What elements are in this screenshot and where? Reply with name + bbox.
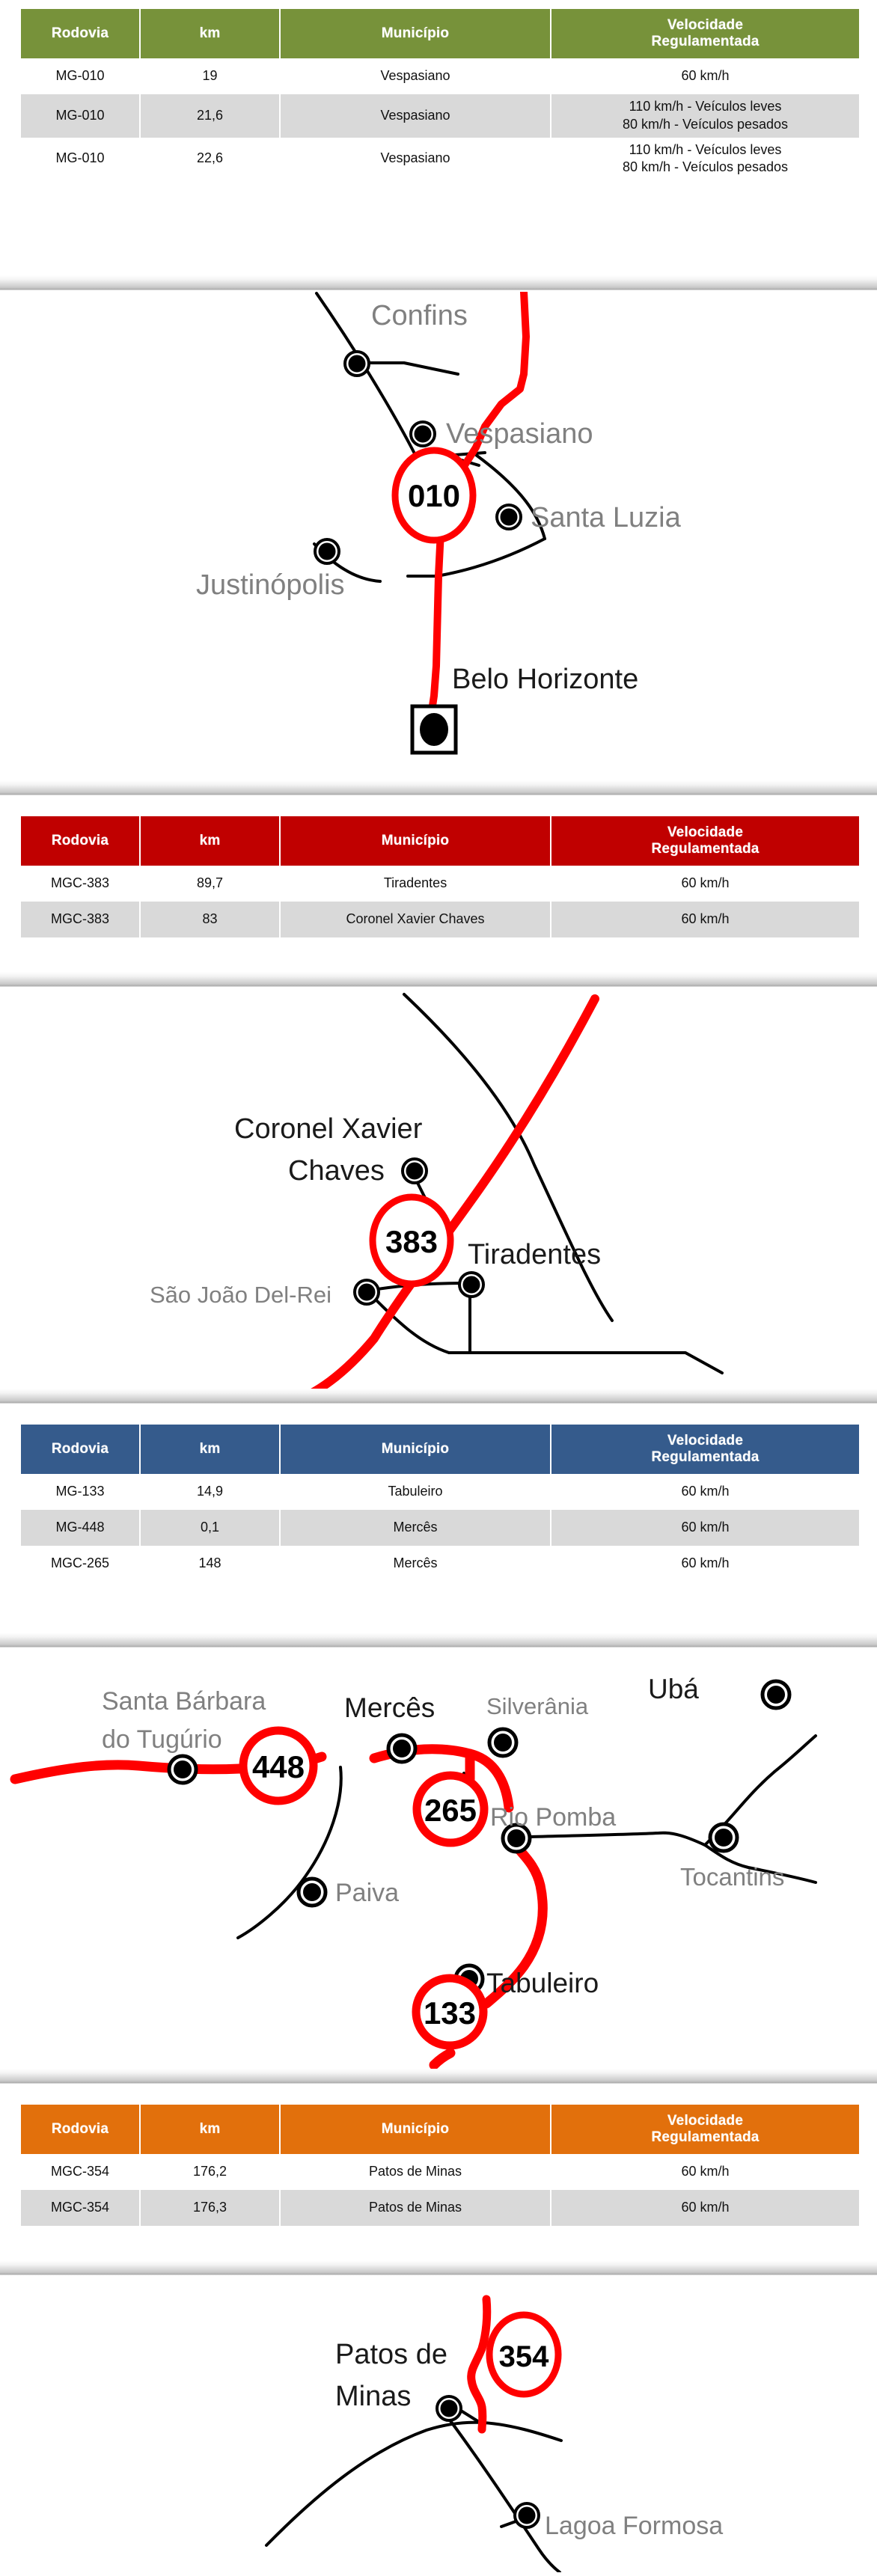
road-map-mgc-383-svg: 383 Coronel Xavier Chaves Tiradentes São… [0, 991, 877, 1403]
section-divider [0, 1389, 877, 1408]
speed-table-mg-133: Rodovia km Município Velocidade Regulame… [21, 1425, 859, 1582]
column-header-velocidade-line2: Regulamentada [651, 1449, 759, 1465]
cell-rodovia: MG-448 [21, 1510, 141, 1546]
city-label-uba: Ubá [648, 1674, 699, 1704]
highway-shield-383-number: 383 [385, 1224, 438, 1259]
cell-velocidade: 110 km/h - Veículos leves 80 km/h - Veíc… [551, 94, 859, 138]
city-label-paiva: Paiva [335, 1879, 399, 1907]
section-mg-133: Rodovia km Município Velocidade Regulame… [0, 1408, 877, 1633]
table-row: MG-448 0,1 Mercês 60 km/h [21, 1510, 859, 1546]
column-header-velocidade-line1: Velocidade [667, 824, 743, 840]
highway-mg-133-lower [434, 2053, 450, 2065]
highway-shield-133-number: 133 [424, 1995, 476, 2031]
highway-mgc-354-line [471, 2299, 487, 2429]
cell-municipio: Patos de Minas [281, 2154, 551, 2190]
highway-shield-265-number: 265 [424, 1793, 477, 1828]
section-divider [0, 2069, 877, 2088]
table-row: MG-010 22,6 Vespasiano 110 km/h - Veícul… [21, 138, 859, 181]
cell-km: 22,6 [141, 138, 281, 181]
column-header-velocidade: Velocidade Regulamentada [551, 9, 859, 58]
highway-shield-010: 010 [395, 450, 473, 540]
highway-shield-354-number: 354 [499, 2340, 549, 2373]
city-node-patos-de-minas [439, 2399, 459, 2418]
cell-km: 176,2 [141, 2154, 281, 2190]
city-node-confins [347, 354, 367, 373]
section-mgc-354: Rodovia km Município Velocidade Regulame… [0, 2088, 877, 2260]
city-node-lagoa-formosa [517, 2506, 537, 2525]
city-node-sao-joao-del-rei [357, 1282, 376, 1302]
column-header-velocidade-line1: Velocidade [667, 17, 743, 33]
cell-velocidade: 60 km/h [551, 1510, 859, 1546]
cell-rodovia: MGC-354 [21, 2154, 141, 2190]
cell-municipio: Patos de Minas [281, 2190, 551, 2226]
column-header-municipio: Município [281, 2105, 551, 2154]
highway-shield-448: 448 [243, 1731, 314, 1801]
column-header-km: km [141, 816, 281, 866]
column-header-rodovia: Rodovia [21, 2105, 141, 2154]
city-label-minas: Minas [335, 2381, 411, 2412]
cell-municipio: Tiradentes [281, 866, 551, 902]
cell-municipio: Vespasiano [281, 58, 551, 94]
cell-velocidade: 60 km/h [551, 866, 859, 902]
cell-velocidade-line1: 110 km/h - Veículos leves [629, 99, 782, 114]
city-node-uba [766, 1684, 786, 1705]
cell-velocidade: 110 km/h - Veículos leves 80 km/h - Veíc… [551, 138, 859, 181]
city-label-tocantins: Tocantins [680, 1863, 784, 1891]
city-node-silverania [492, 1732, 513, 1753]
city-label-santa-luzia: Santa Luzia [531, 502, 682, 533]
cell-km: 14,9 [141, 1474, 281, 1510]
cell-rodovia: MGC-354 [21, 2190, 141, 2226]
map-mg-010: 010 Confins Vespasiano Santa Luzia Justi… [0, 292, 877, 793]
cell-velocidade: 60 km/h [551, 2190, 859, 2226]
cell-velocidade: 60 km/h [551, 902, 859, 937]
city-node-vespasiano [413, 424, 433, 444]
highway-shield-010-number: 010 [408, 478, 460, 513]
table-row: MGC-383 89,7 Tiradentes 60 km/h [21, 866, 859, 902]
cell-velocidade: 60 km/h [551, 2154, 859, 2190]
highway-shield-354: 354 [489, 2315, 558, 2394]
cell-km: 83 [141, 902, 281, 937]
city-label-confins: Confins [371, 300, 468, 331]
city-nodes [437, 2396, 539, 2527]
cell-rodovia: MGC-265 [21, 1546, 141, 1582]
cell-velocidade: 60 km/h [551, 58, 859, 94]
cell-km: 21,6 [141, 94, 281, 138]
table-header-row: Rodovia km Município Velocidade Regulame… [21, 1425, 859, 1474]
map-mg-133: 448 265 133 Santa Bárbara do Tugúrio Mer… [0, 1652, 877, 2071]
city-node-santa-barbara-do-tugurio [172, 1759, 193, 1780]
table-header-row: Rodovia km Município Velocidade Regulame… [21, 9, 859, 58]
section-mg-010: Rodovia km Município Velocidade Regulame… [0, 0, 877, 292]
city-nodes [169, 1681, 789, 1992]
cell-municipio: Coronel Xavier Chaves [281, 902, 551, 937]
city-label-vespasiano: Vespasiano [446, 418, 593, 450]
cell-km: 19 [141, 58, 281, 94]
city-label-sao-joao-del-rei: São João Del-Rei [150, 1282, 331, 1308]
city-node-merces [391, 1738, 412, 1759]
cell-km: 89,7 [141, 866, 281, 902]
speed-table-mgc-383: Rodovia km Município Velocidade Regulame… [21, 816, 859, 937]
column-header-velocidade-line2: Regulamentada [651, 841, 759, 857]
map-mgc-354: 354 Patos de Minas Lagoa Formosa [0, 2280, 877, 2572]
section-mgc-383: Rodovia km Município Velocidade Regulame… [0, 800, 877, 972]
table-row: MG-133 14,9 Tabuleiro 60 km/h [21, 1474, 859, 1510]
table-row: MGC-354 176,2 Patos de Minas 60 km/h [21, 2154, 859, 2190]
column-header-rodovia: Rodovia [21, 1425, 141, 1474]
city-node-paiva [302, 1882, 323, 1903]
highway-shield-133: 133 [416, 1978, 483, 2046]
cell-km: 176,3 [141, 2190, 281, 2226]
table-header-row: Rodovia km Município Velocidade Regulame… [21, 816, 859, 866]
city-node-justinopolis [317, 542, 337, 561]
highway-shield-448-number: 448 [252, 1749, 305, 1784]
highway-shield-265: 265 [417, 1775, 484, 1843]
city-label-coronel-xavier: Coronel Xavier [234, 1113, 423, 1145]
city-label-lagoa-formosa: Lagoa Formosa [545, 2512, 723, 2540]
column-header-velocidade-line1: Velocidade [667, 2113, 743, 2129]
city-label-merces: Mercês [344, 1692, 435, 1723]
city-node-tiradentes [462, 1275, 481, 1294]
secondary-roads [368, 994, 722, 1373]
cell-rodovia: MG-010 [21, 94, 141, 138]
section-divider [0, 1633, 877, 1652]
city-node-tocantins [713, 1827, 734, 1848]
column-header-municipio: Município [281, 9, 551, 58]
cell-rodovia: MG-010 [21, 138, 141, 181]
table-row: MG-010 21,6 Vespasiano 110 km/h - Veícul… [21, 94, 859, 138]
cell-velocidade-line1: 110 km/h - Veículos leves [629, 142, 782, 157]
cell-municipio: Vespasiano [281, 138, 551, 181]
capital-marker-dot [420, 713, 448, 746]
road-map-mg-010-svg: 010 Confins Vespasiano Santa Luzia Justi… [0, 292, 877, 793]
cell-km: 148 [141, 1546, 281, 1582]
section-divider [0, 2260, 877, 2280]
secondary-roads [266, 2403, 561, 2572]
city-node-santa-luzia [499, 507, 519, 527]
column-header-velocidade-line1: Velocidade [667, 1433, 743, 1448]
table-header-row: Rodovia km Município Velocidade Regulame… [21, 2105, 859, 2154]
city-label-silverania: Silverânia [486, 1693, 589, 1719]
cell-rodovia: MG-133 [21, 1474, 141, 1510]
city-node-coronel-xavier-chaves [405, 1161, 424, 1181]
column-header-velocidade-line2: Regulamentada [651, 34, 759, 49]
city-label-tiradentes: Tiradentes [468, 1239, 601, 1270]
column-header-rodovia: Rodovia [21, 816, 141, 866]
city-label-tabuleiro: Tabuleiro [486, 1968, 599, 1998]
cell-rodovia: MGC-383 [21, 902, 141, 937]
highway-shield-383: 383 [373, 1197, 450, 1284]
table-row: MGC-265 148 Mercês 60 km/h [21, 1546, 859, 1582]
cell-rodovia: MGC-383 [21, 866, 141, 902]
cell-municipio: Vespasiano [281, 94, 551, 138]
column-header-km: km [141, 1425, 281, 1474]
cell-velocidade-line2: 80 km/h - Veículos pesados [623, 159, 788, 174]
table-row: MGC-354 176,3 Patos de Minas 60 km/h [21, 2190, 859, 2226]
column-header-velocidade: Velocidade Regulamentada [551, 1425, 859, 1474]
city-label-rio-pomba: Rio Pomba [490, 1803, 616, 1832]
speed-table-mgc-354: Rodovia km Município Velocidade Regulame… [21, 2105, 859, 2226]
road-map-mgc-354-svg: 354 Patos de Minas Lagoa Formosa [0, 2280, 877, 2572]
cell-municipio: Mercês [281, 1546, 551, 1582]
city-label-belo-horizonte: Belo Horizonte [452, 664, 638, 695]
cell-velocidade: 60 km/h [551, 1546, 859, 1582]
cell-velocidade: 60 km/h [551, 1474, 859, 1510]
column-header-municipio: Município [281, 816, 551, 866]
section-divider [0, 780, 877, 800]
map-mgc-383: 383 Coronel Xavier Chaves Tiradentes São… [0, 991, 877, 1403]
table-row: MGC-383 83 Coronel Xavier Chaves 60 km/h [21, 902, 859, 937]
cell-rodovia: MG-010 [21, 58, 141, 94]
city-label-chaves: Chaves [288, 1155, 385, 1187]
column-header-velocidade: Velocidade Regulamentada [551, 816, 859, 866]
column-header-velocidade: Velocidade Regulamentada [551, 2105, 859, 2154]
column-header-velocidade-line2: Regulamentada [651, 2129, 759, 2145]
column-header-rodovia: Rodovia [21, 9, 141, 58]
cell-velocidade-line2: 80 km/h - Veículos pesados [623, 117, 788, 132]
city-label-patos-de: Patos de [335, 2339, 447, 2370]
column-header-municipio: Município [281, 1425, 551, 1474]
table-row: MG-010 19 Vespasiano 60 km/h [21, 58, 859, 94]
column-header-km: km [141, 9, 281, 58]
speed-table-mg-010: Rodovia km Município Velocidade Regulame… [21, 9, 859, 180]
road-map-mg-133-svg: 448 265 133 Santa Bárbara do Tugúrio Mer… [0, 1652, 877, 2071]
cell-municipio: Mercês [281, 1510, 551, 1546]
column-header-km: km [141, 2105, 281, 2154]
city-label-do-tugurio: do Tugúrio [102, 1725, 222, 1754]
section-divider [0, 972, 877, 991]
city-label-justinopolis: Justinópolis [196, 569, 345, 601]
cell-km: 0,1 [141, 1510, 281, 1546]
cell-municipio: Tabuleiro [281, 1474, 551, 1510]
city-label-santa-barbara: Santa Bárbara [102, 1687, 266, 1716]
